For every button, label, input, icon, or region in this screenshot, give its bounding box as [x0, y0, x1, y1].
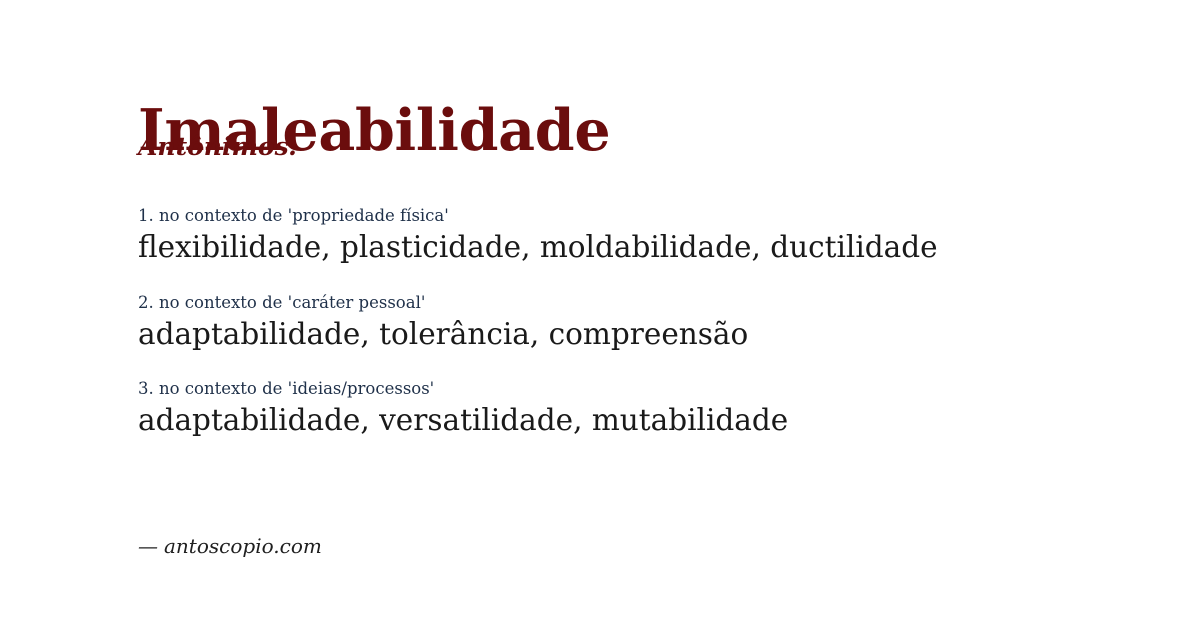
antonym-sense-list: 1. no contexto de 'propriedade física' f… — [138, 205, 1160, 440]
list-item: 3. no contexto de 'ideias/processos' ada… — [138, 378, 1160, 440]
section-label-antonyms: Antônimos: — [138, 133, 298, 161]
attribution-source: antoscopio.com — [164, 534, 322, 558]
list-item: 2. no contexto de 'caráter pessoal' adap… — [138, 292, 1160, 354]
antonym-card: Imaleabilidade Antônimos: 1. no contexto… — [0, 0, 1200, 628]
sense-context-label: 3. no contexto de 'ideias/processos' — [138, 378, 1160, 400]
attribution: —antoscopio.com — [138, 534, 322, 558]
em-dash-glyph: — — [138, 534, 158, 558]
antonym-words: adaptabilidade, tolerância, compreensão — [138, 315, 1160, 353]
antonym-words: flexibilidade, plasticidade, moldabilida… — [138, 228, 1160, 266]
list-item: 1. no contexto de 'propriedade física' f… — [138, 205, 1160, 267]
sense-context-label: 1. no contexto de 'propriedade física' — [138, 205, 1160, 227]
sense-context-label: 2. no contexto de 'caráter pessoal' — [138, 292, 1160, 314]
antonym-words: adaptabilidade, versatilidade, mutabilid… — [138, 401, 1160, 439]
